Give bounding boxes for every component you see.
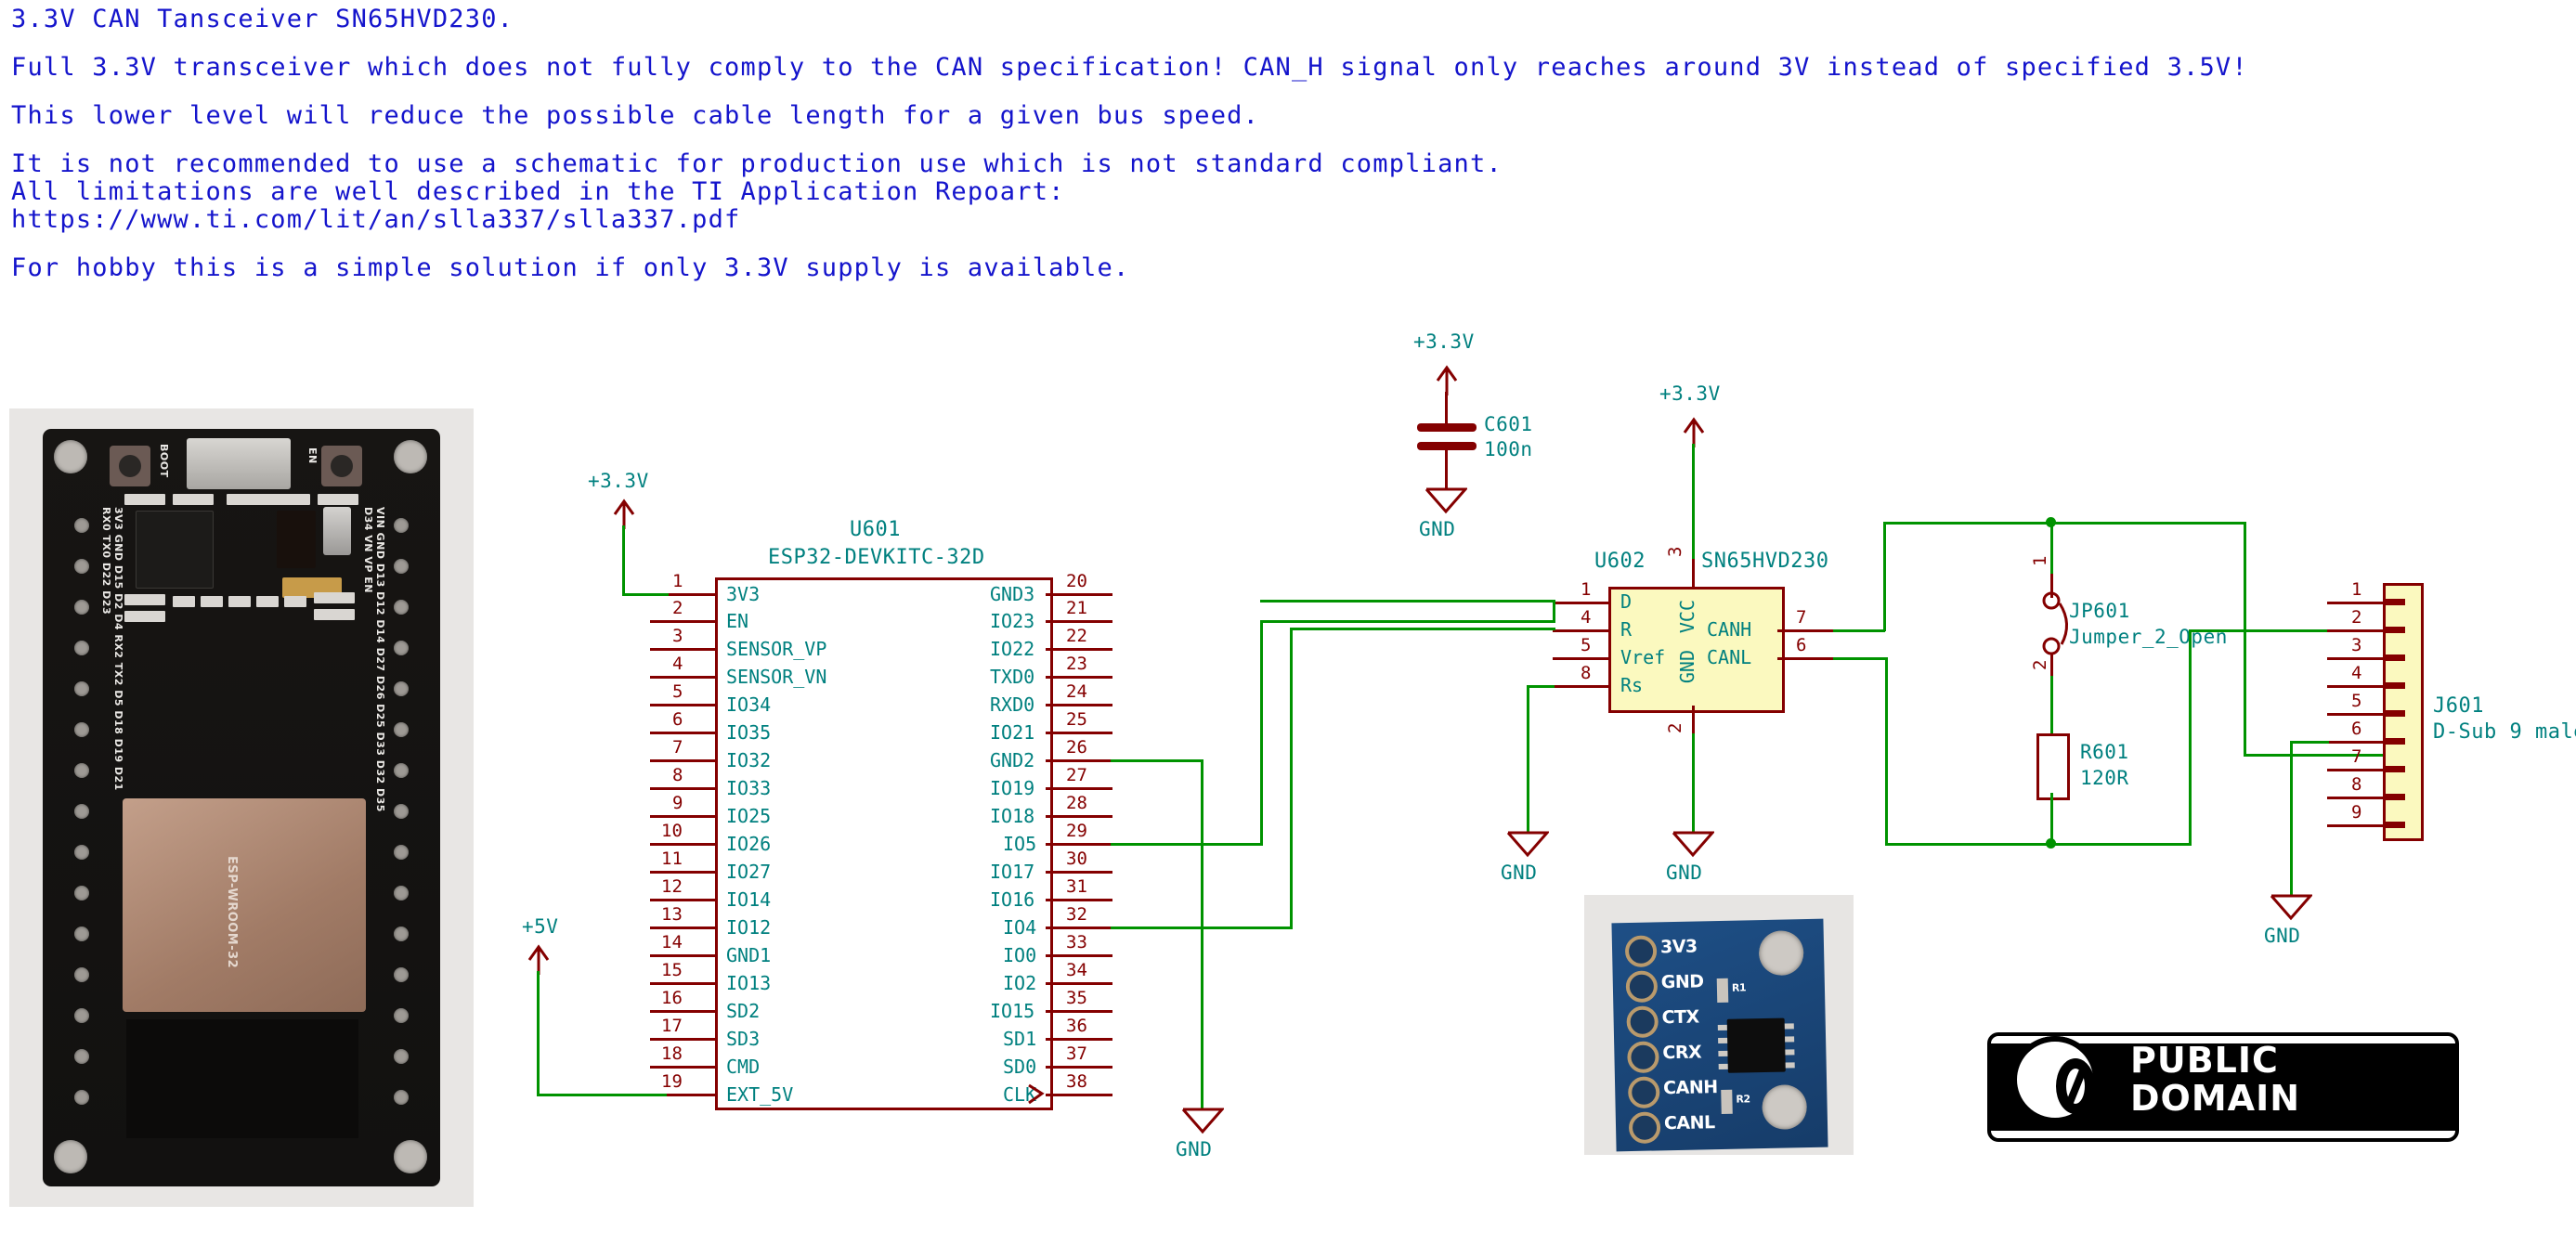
u601-pin-name-IO27: IO27 <box>726 861 771 883</box>
u602-pin8-stub <box>1553 685 1610 688</box>
j601-pin2-stub <box>2327 629 2383 632</box>
header-pad <box>74 1049 89 1064</box>
c601-value: 100n <box>1484 438 1533 460</box>
pin-stub <box>1046 648 1112 651</box>
u601-pin-name-3V3: 3V3 <box>726 583 760 605</box>
u601-pin-name-IO18: IO18 <box>990 805 1034 827</box>
power-label-3v3-u602: +3.3V <box>1659 382 1721 405</box>
mount-hole <box>394 1140 427 1173</box>
u601-pin-num-18: 18 <box>661 1043 683 1064</box>
header-pad <box>394 681 409 696</box>
u601-pin-num-19: 19 <box>661 1071 683 1092</box>
bulk-capacitor <box>323 507 351 555</box>
wire-io5-to-d <box>1260 600 1555 603</box>
voltage-regulator <box>277 511 316 568</box>
r601-ref: R601 <box>2080 741 2129 763</box>
wire-u602-vcc <box>1692 444 1695 561</box>
module-label: ESP-WROOM-32 <box>225 856 239 977</box>
pin-stub <box>1046 787 1112 790</box>
pin-stub <box>650 676 717 679</box>
j601-pin-num-9: 9 <box>2351 802 2361 823</box>
right-header-labels: VIN GND D13 D12 D14 D27 D26 D25 D33 D32 … <box>362 507 386 813</box>
u601-pin-num-16: 16 <box>661 988 683 1008</box>
u601-pin-name-IO32: IO32 <box>726 749 771 771</box>
pin-stub <box>650 899 717 901</box>
ic-leg <box>1719 1064 1728 1069</box>
can-module-pcb: 3V3 GND CTX CRX CANH CANL R1 R2 <box>1611 919 1828 1152</box>
u602-pin-num-6: 6 <box>1796 635 1806 655</box>
u601-pin-num-21: 21 <box>1066 598 1087 618</box>
u602-pin7-stub <box>1777 629 1835 632</box>
pin-stub <box>650 1038 717 1041</box>
pin-stub <box>1046 982 1112 985</box>
power-arrow-3v3-cap-icon <box>1430 364 1464 395</box>
note-line-2: This lower level will reduce the possibl… <box>11 102 2333 130</box>
u601-pin-name-IO19: IO19 <box>990 777 1034 799</box>
header-pad <box>74 886 89 901</box>
u601-pin-num-35: 35 <box>1066 988 1087 1008</box>
u601-pin-num-24: 24 <box>1066 681 1087 702</box>
j601-pin3-tab <box>2385 654 2405 661</box>
u601-pin-name-IO13: IO13 <box>726 972 771 994</box>
j601-pin-num-7: 7 <box>2351 746 2361 767</box>
u601-pin-name-IO33: IO33 <box>726 777 771 799</box>
wire-rs-h <box>1527 685 1555 688</box>
u601-pin-num-15: 15 <box>661 960 683 980</box>
u602-pin-num-4: 4 <box>1581 607 1591 628</box>
sn65hvd230-ic <box>1727 1018 1786 1073</box>
power-arrow-3v3-esp-icon <box>607 498 641 529</box>
wire-canh-riser <box>1883 522 1886 631</box>
header-pad <box>394 845 409 860</box>
header-pad <box>74 518 89 533</box>
smd-part <box>314 592 355 603</box>
u601-pin-name-IO16: IO16 <box>990 888 1034 911</box>
j601-pin-num-2: 2 <box>2351 607 2361 628</box>
en-button-label: EN <box>306 447 319 464</box>
u601-pin-name-GND1: GND1 <box>726 944 771 966</box>
u601-pin-num-5: 5 <box>672 681 683 702</box>
header-pad <box>74 559 89 574</box>
u601-pin-num-31: 31 <box>1066 876 1087 897</box>
u601-pin-name-IO25: IO25 <box>726 805 771 827</box>
u601-pin-num-13: 13 <box>661 904 683 925</box>
gnd-label-u602: GND <box>1666 862 1702 884</box>
u601-pin-name-IO35: IO35 <box>726 721 771 744</box>
u601-pin-name-IO4: IO4 <box>1003 916 1036 939</box>
jp601-pin2-lead <box>2050 654 2053 678</box>
j601-pin1-stub <box>2327 602 2383 604</box>
u602-pin-name-R: R <box>1620 618 1632 641</box>
pin-stub <box>1046 815 1112 818</box>
wire-j601-gnd-v <box>2290 741 2293 897</box>
note-line-4: All limitations are well described in th… <box>11 178 2333 206</box>
wire-io4-v <box>1290 629 1293 929</box>
u601-pin-name-IO22: IO22 <box>990 638 1034 660</box>
pin-stub <box>650 732 717 734</box>
r601-body[interactable] <box>2036 733 2070 800</box>
pin-stub <box>1046 704 1112 706</box>
pin-stub <box>1046 1066 1112 1069</box>
u602-ref: U602 <box>1594 550 1646 573</box>
power-label-5v-esp: +5V <box>522 915 558 938</box>
j601-pin6-tab <box>2385 738 2405 745</box>
wire-canl-riser <box>2189 629 2192 845</box>
pin-stub <box>1046 676 1112 679</box>
smd-part <box>173 494 214 505</box>
u602-pin1-stub <box>1553 602 1610 604</box>
pin-stub <box>1046 759 1112 762</box>
wire-3v3-esp-vert <box>622 525 625 594</box>
ic-leg <box>1718 1051 1727 1056</box>
note-line-3: It is not recommended to use a schematic… <box>11 150 2333 178</box>
u602-pin-num-5: 5 <box>1581 635 1591 655</box>
u601-pin-num-33: 33 <box>1066 932 1087 952</box>
u601-pin-num-32: 32 <box>1066 904 1087 925</box>
wire-jp601-top <box>2050 522 2053 577</box>
u601-pin-name-IO12: IO12 <box>726 916 771 939</box>
wire-canh-to-j601 <box>2244 754 2383 757</box>
u601-pin-num-30: 30 <box>1066 849 1087 869</box>
j601-pin9-stub <box>2327 824 2383 827</box>
u601-pin-num-11: 11 <box>661 849 683 869</box>
u601-pin-name-IO2: IO2 <box>1003 972 1036 994</box>
u601-pin-name-IO26: IO26 <box>726 833 771 855</box>
u601-pin-name-EN: EN <box>726 610 748 632</box>
left-header-labels: 3V3 GND D15 D2 D4 RX2 TX2 D5 D18 D19 D21… <box>100 507 124 795</box>
header-pad <box>74 681 89 696</box>
wire-io4-h2 <box>1290 628 1555 630</box>
c601-plate-top <box>1417 423 1477 432</box>
u601-pin-num-26: 26 <box>1066 737 1087 758</box>
j601-pin6-stub <box>2327 741 2383 744</box>
u601-pin-name-RXD0: RXD0 <box>990 693 1034 716</box>
pin-stub <box>650 871 717 874</box>
badge-text: PUBLIC DOMAIN <box>2130 1042 2300 1118</box>
u602-pin-name-VCC: VCC <box>1676 600 1698 633</box>
gnd-label-esp: GND <box>1176 1138 1212 1160</box>
resistor-r1 <box>1717 978 1729 1003</box>
header-pad <box>394 886 409 901</box>
header-pad <box>394 722 409 737</box>
pin-stub <box>650 1066 717 1069</box>
j601-ref: J601 <box>2433 694 2484 718</box>
pin-stub <box>1046 871 1112 874</box>
u602-pin-num-1: 1 <box>1581 579 1591 600</box>
u602-pin-name-CANL: CANL <box>1707 646 1751 668</box>
u601-pin-num-37: 37 <box>1066 1043 1087 1064</box>
gnd-symbol-esp-icon <box>1181 1107 1224 1134</box>
u601-pin-num-23: 23 <box>1066 654 1087 674</box>
smd-part <box>256 596 279 607</box>
jp601-pin-num-1: 1 <box>2030 556 2050 566</box>
module-pad-crx <box>1627 1041 1659 1073</box>
module-label-canh: CANH <box>1663 1077 1718 1098</box>
u601-pin-num-1: 1 <box>672 571 683 591</box>
public-domain-mark-icon <box>2011 1036 2099 1123</box>
junction-canh <box>2046 517 2056 527</box>
mount-hole <box>54 440 87 473</box>
pin-stub <box>650 759 717 762</box>
pin-stub <box>650 620 717 623</box>
header-pad <box>74 967 89 982</box>
u601-pin-num-17: 17 <box>661 1016 683 1036</box>
smd-part <box>228 596 251 607</box>
header-pad <box>394 641 409 655</box>
u602-pin2-stub <box>1692 706 1695 735</box>
header-pad <box>394 600 409 615</box>
header-pad <box>394 1008 409 1023</box>
mount-hole <box>1759 930 1804 976</box>
header-pad <box>394 1049 409 1064</box>
boot-button <box>110 446 150 486</box>
c601-bottom-lead <box>1445 449 1448 490</box>
header-pad <box>394 518 409 533</box>
header-pad <box>394 559 409 574</box>
header-pad <box>74 641 89 655</box>
u602-pin-num-3: 3 <box>1665 547 1685 557</box>
wire-canl-down <box>1885 657 1888 845</box>
notes-block: 3.3V CAN Tansceiver SN65HVD230. Full 3.3… <box>11 6 2333 282</box>
gnd-label-rs: GND <box>1501 862 1537 884</box>
gnd-label-j601: GND <box>2264 925 2300 947</box>
j601-pin8-stub <box>2327 797 2383 799</box>
pin-stub <box>650 843 717 846</box>
u601-pin-num-10: 10 <box>661 821 683 841</box>
u601-pin-name-IO23: IO23 <box>990 610 1034 632</box>
u602-pin-num-8: 8 <box>1581 663 1591 683</box>
module-pad-gnd <box>1626 970 1659 1003</box>
pin-stub <box>650 1010 717 1013</box>
ic-leg <box>1785 1023 1794 1029</box>
u601-pin-num-14: 14 <box>661 932 683 952</box>
header-pad <box>74 1090 89 1105</box>
esp-wroom-32-module <box>123 798 366 1012</box>
note-line-5: For hobby this is a simple solution if o… <box>11 254 2333 282</box>
pin-stub <box>650 954 717 957</box>
j601-pin7-tab <box>2385 766 2405 772</box>
u601-pin-num-28: 28 <box>1066 793 1087 813</box>
wire-canh-down <box>2244 522 2246 756</box>
header-pad <box>74 927 89 941</box>
en-button <box>321 446 362 486</box>
u601-pin-num-22: 22 <box>1066 626 1087 646</box>
pin-stub <box>1046 899 1112 901</box>
silk-label-r2: R2 <box>1736 1093 1750 1105</box>
u602-pin-name-Vref: Vref <box>1620 646 1665 668</box>
u601-pin-name-SD0: SD0 <box>1003 1056 1036 1078</box>
u602-pin-num-2: 2 <box>1665 723 1685 733</box>
u601-pin-num-7: 7 <box>672 737 683 758</box>
u601-pin-num-8: 8 <box>672 765 683 785</box>
u602-pin-name-Rs: Rs <box>1620 674 1643 696</box>
note-line-1: Full 3.3V transceiver which does not ful… <box>11 54 2333 82</box>
u602-pin5-stub <box>1553 657 1610 660</box>
u601-pin-name-SD2: SD2 <box>726 1000 760 1022</box>
j601-pin-num-1: 1 <box>2351 579 2361 600</box>
wire-j601-gnd-h <box>2290 741 2329 744</box>
ic-leg <box>1718 1038 1727 1043</box>
c601-top-lead <box>1445 392 1448 425</box>
u602-pin-name-D: D <box>1620 590 1632 613</box>
header-pad <box>74 722 89 737</box>
u601-pin-num-12: 12 <box>661 876 683 897</box>
u602-pin4-stub <box>1553 629 1610 632</box>
note-url[interactable]: https://www.ti.com/lit/an/slla337/slla33… <box>11 206 2333 234</box>
u601-pin-num-29: 29 <box>1066 821 1087 841</box>
silk-label-r1: R1 <box>1732 981 1746 993</box>
u601-pin-name-IO14: IO14 <box>726 888 771 911</box>
u602-pin6-stub <box>1777 657 1835 660</box>
resistor-r2 <box>1721 1090 1733 1114</box>
j601-pin-num-8: 8 <box>2351 774 2361 795</box>
pin-stub <box>1046 1094 1112 1096</box>
smd-part <box>284 596 306 607</box>
clock-input-marker <box>1027 1082 1051 1107</box>
pin-stub <box>1046 620 1112 623</box>
j601-pin5-tab <box>2385 710 2405 717</box>
pin-stub <box>1046 732 1112 734</box>
header-pad <box>74 763 89 778</box>
jp601-pin-num-2: 2 <box>2030 660 2050 670</box>
junction-canl <box>2046 838 2056 849</box>
module-pad-ctx <box>1626 1005 1659 1038</box>
header-pad <box>74 804 89 819</box>
wire-canl-stub <box>1833 657 1887 660</box>
u601-pin-name-TXD0: TXD0 <box>990 666 1034 688</box>
module-label-3v3: 3V3 <box>1660 936 1698 957</box>
wire-gnd2-h <box>1111 759 1203 762</box>
u601-pin-name-IO34: IO34 <box>726 693 771 716</box>
u601-pin-num-3: 3 <box>672 626 683 646</box>
wire-io5-v <box>1260 620 1263 846</box>
u601-pin-name-SENSOR_VP: SENSOR_VP <box>726 638 826 660</box>
r601-value: 120R <box>2080 767 2129 789</box>
power-arrow-3v3-u602-icon <box>1677 416 1711 447</box>
public-domain-badge: PUBLIC DOMAIN <box>1987 1032 2459 1142</box>
wire-canl-bottom-rail <box>1885 843 2192 846</box>
j601-pin1-tab <box>2385 599 2405 605</box>
u601-pin-name-GND3: GND3 <box>990 583 1034 605</box>
smd-part <box>124 611 165 622</box>
mount-hole <box>394 440 427 473</box>
wire-canh-stub <box>1833 629 1885 632</box>
j601-pin-num-6: 6 <box>2351 719 2361 739</box>
u601-pin-name-EXT_5V: EXT_5V <box>726 1083 793 1106</box>
wire-5v-esp-horz <box>537 1094 667 1096</box>
j601-pin4-stub <box>2327 685 2383 688</box>
wire-3v3-esp-horz <box>622 593 669 596</box>
ic-leg <box>1785 1036 1794 1042</box>
u601-pin-num-38: 38 <box>1066 1071 1087 1092</box>
pin-stub <box>650 982 717 985</box>
module-label-crx: CRX <box>1662 1042 1701 1063</box>
esp32-board-photo: BOOT EN 3V3 GND D15 D2 D4 RX2 TX2 D5 D18… <box>9 408 474 1207</box>
header-pad <box>394 927 409 941</box>
header-pad <box>74 600 89 615</box>
j601-pin2-tab <box>2385 627 2405 633</box>
u602-pin-name-GND: GND <box>1676 650 1698 683</box>
u601-pin-name-SENSOR_VN: SENSOR_VN <box>726 666 826 688</box>
wire-io5-h1 <box>1111 843 1263 846</box>
badge-line-2: DOMAIN <box>2130 1080 2300 1118</box>
header-pad <box>394 804 409 819</box>
j601-pin3-stub <box>2327 657 2383 660</box>
pcb-bottom-area <box>126 1019 358 1138</box>
u602-pin-name-CANH: CANH <box>1707 618 1751 641</box>
u601-pin-name-IO15: IO15 <box>990 1000 1034 1022</box>
module-label-gnd: GND <box>1661 971 1704 992</box>
gnd-label-c601: GND <box>1419 518 1455 540</box>
u601-pin-name-CMD: CMD <box>726 1056 760 1078</box>
can-module-photo: 3V3 GND CTX CRX CANH CANL R1 R2 <box>1584 895 1854 1155</box>
header-pad <box>74 1008 89 1023</box>
module-pad-canl <box>1629 1111 1661 1144</box>
u601-pin-num-6: 6 <box>672 709 683 730</box>
smd-part <box>124 494 165 505</box>
pin-stub <box>1046 843 1112 846</box>
wire-io5-riser <box>1553 602 1555 623</box>
gnd-symbol-j601-icon <box>2270 893 2312 921</box>
j601-pin9-tab <box>2385 822 2405 828</box>
pin-stub <box>650 704 717 706</box>
u601-pin-name-SD1: SD1 <box>1003 1028 1036 1050</box>
badge-line-1: PUBLIC <box>2130 1042 2300 1080</box>
header-pad <box>394 763 409 778</box>
wire-io5-h2 <box>1260 620 1555 623</box>
wire-u602-gnd <box>1692 733 1695 834</box>
u601-pin-name-IO5: IO5 <box>1003 833 1036 855</box>
j601-value: D-Sub 9 male <box>2433 720 2576 744</box>
pin-stub <box>650 787 717 790</box>
ic-leg <box>1718 1025 1727 1030</box>
u602-pin-num-7: 7 <box>1796 607 1806 628</box>
esp32-pcb: BOOT EN 3V3 GND D15 D2 D4 RX2 TX2 D5 D18… <box>43 429 440 1186</box>
note-title: 3.3V CAN Tansceiver SN65HVD230. <box>11 6 2333 33</box>
j601-pin7-stub <box>2327 769 2383 771</box>
u601-pin-name-IO0: IO0 <box>1003 944 1036 966</box>
u601-pin-name-GND2: GND2 <box>990 749 1034 771</box>
wire-rs-v <box>1527 685 1529 834</box>
u601-pin-num-36: 36 <box>1066 1016 1087 1036</box>
module-label-ctx: CTX <box>1661 1006 1699 1028</box>
smd-part <box>173 596 195 607</box>
u601-pin-num-9: 9 <box>672 793 683 813</box>
j601-pin8-tab <box>2385 794 2405 800</box>
pin-stub <box>1046 1038 1112 1041</box>
j601-pin4-tab <box>2385 682 2405 689</box>
header-pad <box>394 967 409 982</box>
gnd-symbol-u602-icon <box>1672 830 1714 858</box>
pin-stub <box>1046 1010 1112 1013</box>
module-pad-3v3 <box>1625 935 1658 967</box>
module-pad-canh <box>1628 1076 1660 1108</box>
c601-ref: C601 <box>1484 413 1533 435</box>
j601-pin-num-3: 3 <box>2351 635 2361 655</box>
smd-part <box>124 594 165 605</box>
u601-pin-num-27: 27 <box>1066 765 1087 785</box>
u602-pin3-stub <box>1692 559 1695 589</box>
header-pad <box>394 1090 409 1105</box>
j601-pin5-stub <box>2327 713 2383 716</box>
j601-pin-num-5: 5 <box>2351 691 2361 711</box>
power-label-3v3-cap: +3.3V <box>1413 330 1475 353</box>
smd-part <box>314 609 355 620</box>
smd-part <box>318 494 358 505</box>
module-label-canl: CANL <box>1664 1112 1715 1134</box>
pin-stub <box>1046 954 1112 957</box>
u601-value: ESP32-DEVKITC-32D <box>768 546 985 569</box>
